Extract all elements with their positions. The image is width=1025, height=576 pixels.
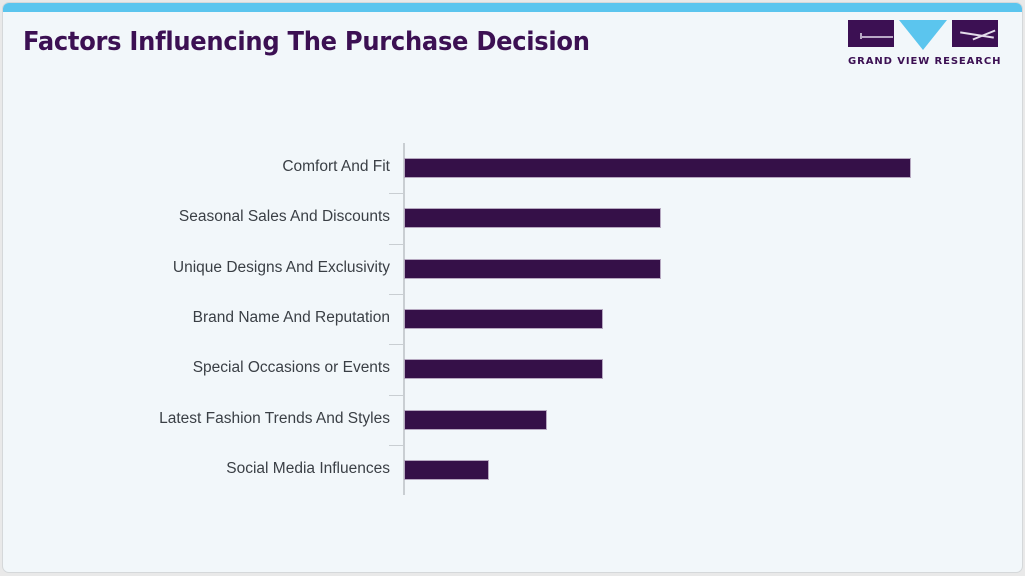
axis-tick: [389, 244, 403, 245]
axis-tick: [389, 445, 403, 446]
bar-category-label: Unique Designs And Exclusivity: [173, 260, 390, 276]
axis-tick: [389, 294, 403, 295]
bar-comfort-and-fit: [405, 159, 910, 177]
bar-category-label: Seasonal Sales And Discounts: [179, 209, 390, 225]
bar-brand-name-and-reputation: [405, 310, 602, 328]
bar-category-label: Latest Fashion Trends And Styles: [159, 411, 390, 427]
axis-tick: [389, 395, 403, 396]
axis-tick: [389, 193, 403, 194]
bar-category-label: Comfort And Fit: [282, 159, 390, 175]
bar-special-occasions-or-events: [405, 360, 602, 378]
bar-category-label: Special Occasions or Events: [193, 360, 390, 376]
bar-category-label: Brand Name And Reputation: [193, 310, 390, 326]
axis-tick: [389, 344, 403, 345]
bar-category-label: Social Media Influences: [226, 461, 390, 477]
bar-unique-designs-and-exclusivity: [405, 260, 660, 278]
bar-social-media-influences: [405, 461, 488, 479]
bar-latest-fashion-trends-and-styles: [405, 411, 546, 429]
bar-chart-plot: Comfort And FitSeasonal Sales And Discou…: [3, 3, 1023, 573]
bar-seasonal-sales-and-discounts: [405, 209, 660, 227]
chart-card: Factors Influencing The Purchase Decisio…: [2, 2, 1023, 573]
